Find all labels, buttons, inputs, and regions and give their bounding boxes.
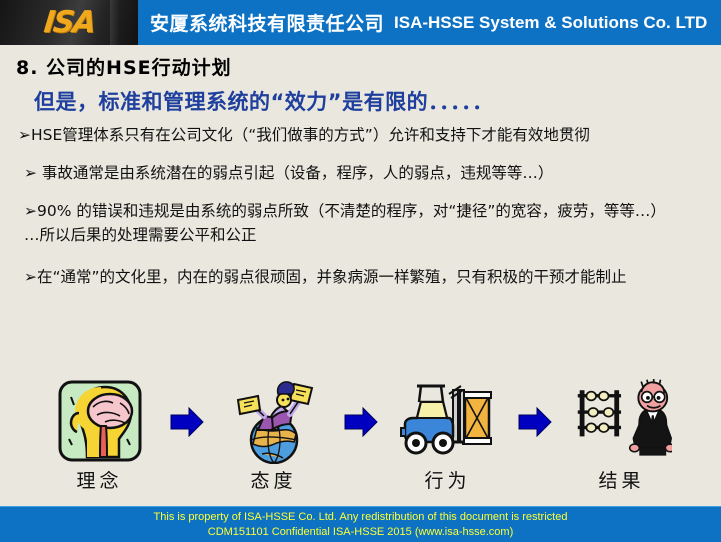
person-on-globe-icon bbox=[224, 378, 324, 464]
flow-step-1-label: 理念 bbox=[76, 466, 122, 493]
flow-step-4-label: 结果 bbox=[598, 466, 644, 493]
flow-step-3: 行为 bbox=[389, 378, 507, 500]
bullet-item: ➢ 事故通常是由系统潜在的弱点引起（设备，程序，人的弱点，违规等等…） bbox=[18, 162, 708, 184]
company-logo: ISA bbox=[0, 0, 138, 45]
footer-confidential-line: CDM151101 Confidential ISA-HSSE 2015 (ww… bbox=[208, 525, 513, 540]
process-flow-diagram: 理念 bbox=[0, 378, 721, 503]
flow-step-1: 理念 bbox=[41, 378, 159, 500]
bullet-item: ➢在“通常”的文化里，内在的弱点很顽固，并象病源一样繁殖，只有积极的干预才能制止 bbox=[18, 266, 708, 288]
flow-step-2: 态度 bbox=[215, 378, 333, 500]
right-arrow-icon bbox=[517, 407, 553, 437]
flow-arrow-3 bbox=[507, 378, 563, 500]
footer-copyright-line: This is property of ISA-HSSE Co. Ltd. An… bbox=[154, 510, 568, 525]
header-title-chinese: 安厦系统科技有限责任公司 bbox=[150, 9, 384, 36]
flow-step-4: 结果 bbox=[563, 378, 681, 500]
flow-arrow-2 bbox=[333, 378, 389, 500]
header-title-english: ISA-HSSE System & Solutions Co. LTD bbox=[394, 13, 707, 33]
right-arrow-icon bbox=[169, 407, 205, 437]
head-brain-icon bbox=[50, 378, 150, 464]
forklift-icon bbox=[398, 378, 498, 464]
flow-arrow-1 bbox=[159, 378, 215, 500]
right-arrow-icon bbox=[343, 407, 379, 437]
bullet-item: ➢HSE管理体系只有在公司文化（“我们做事的方式”）允许和支持下才能有效地贯彻 bbox=[18, 124, 708, 146]
flow-step-2-label: 态度 bbox=[250, 466, 296, 493]
bullet-subnote: …所以后果的处理需要公平和公正 bbox=[18, 224, 708, 246]
isa-logo-text: ISA bbox=[42, 5, 96, 40]
slide-canvas: ISA 安厦系统科技有限责任公司 ISA-HSSE System & Solut… bbox=[0, 0, 721, 542]
bullet-item: ➢90% 的错误和违规是由系统的弱点所致（不清楚的程序，对“捷径”的宽容，疲劳，… bbox=[18, 200, 708, 222]
flow-step-3-label: 行为 bbox=[424, 466, 470, 493]
slide-footer: This is property of ISA-HSSE Co. Ltd. An… bbox=[0, 506, 721, 542]
abacus-businessman-icon bbox=[572, 378, 672, 464]
page-subtitle: 但是，标准和管理系统的“效力”是有限的．．．．． bbox=[34, 86, 494, 116]
page-title: 8. 公司的HSE行动计划 bbox=[16, 53, 232, 80]
header-title-bar: 安厦系统科技有限责任公司 ISA-HSSE System & Solutions… bbox=[138, 0, 721, 45]
body-content: ➢HSE管理体系只有在公司文化（“我们做事的方式”）允许和支持下才能有效地贯彻 … bbox=[18, 124, 708, 300]
slide-header: ISA 安厦系统科技有限责任公司 ISA-HSSE System & Solut… bbox=[0, 0, 721, 45]
